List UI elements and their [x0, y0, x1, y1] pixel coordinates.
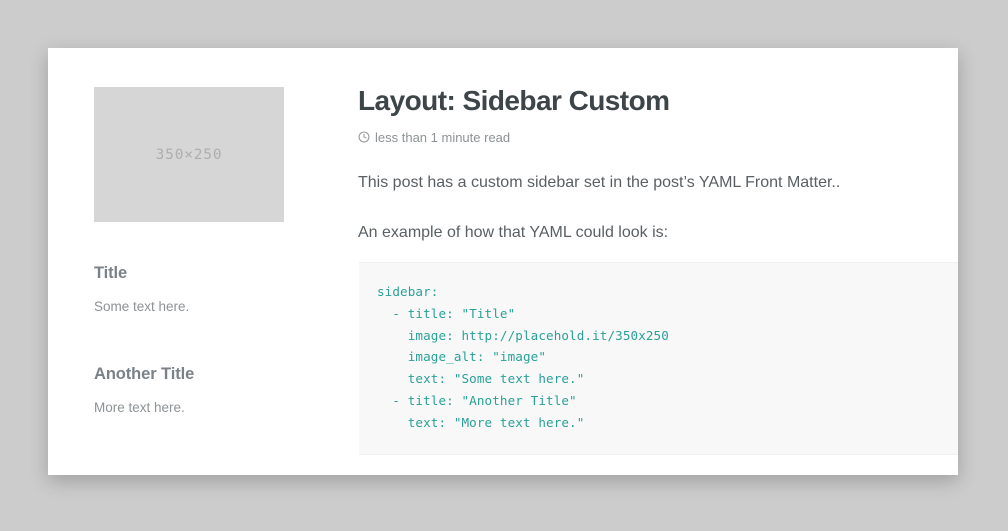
placeholder-dimensions-label: 350×250: [156, 147, 223, 163]
code-block: sidebar: - title: "Title" image: http://…: [359, 262, 958, 455]
sidebar-entry-another-title: Another Title More text here.: [94, 365, 344, 418]
read-time-label: less than 1 minute read: [375, 130, 510, 145]
sidebar-entry-text: Some text here.: [94, 297, 344, 317]
sidebar-entry-text: More text here.: [94, 398, 344, 418]
post-meta: less than 1 minute read: [358, 130, 958, 145]
sidebar-entry-heading: Another Title: [94, 365, 344, 384]
page-card: 350×250 Title Some text here. Another Ti…: [48, 48, 958, 475]
post-paragraph-intro: This post has a custom sidebar set in th…: [358, 171, 958, 196]
sidebar-placeholder-image: 350×250: [94, 87, 284, 222]
sidebar-entry-title: Title Some text here.: [94, 264, 344, 317]
post-paragraph-example: An example of how that YAML could look i…: [358, 221, 958, 246]
page-title: Layout: Sidebar Custom: [358, 84, 958, 118]
sidebar: 350×250 Title Some text here. Another Ti…: [94, 87, 344, 419]
sidebar-entry-heading: Title: [94, 264, 344, 283]
yaml-code[interactable]: sidebar: - title: "Title" image: http://…: [359, 281, 958, 434]
post-content: Layout: Sidebar Custom less than 1 minut…: [358, 84, 958, 246]
clock-icon: [358, 131, 370, 143]
